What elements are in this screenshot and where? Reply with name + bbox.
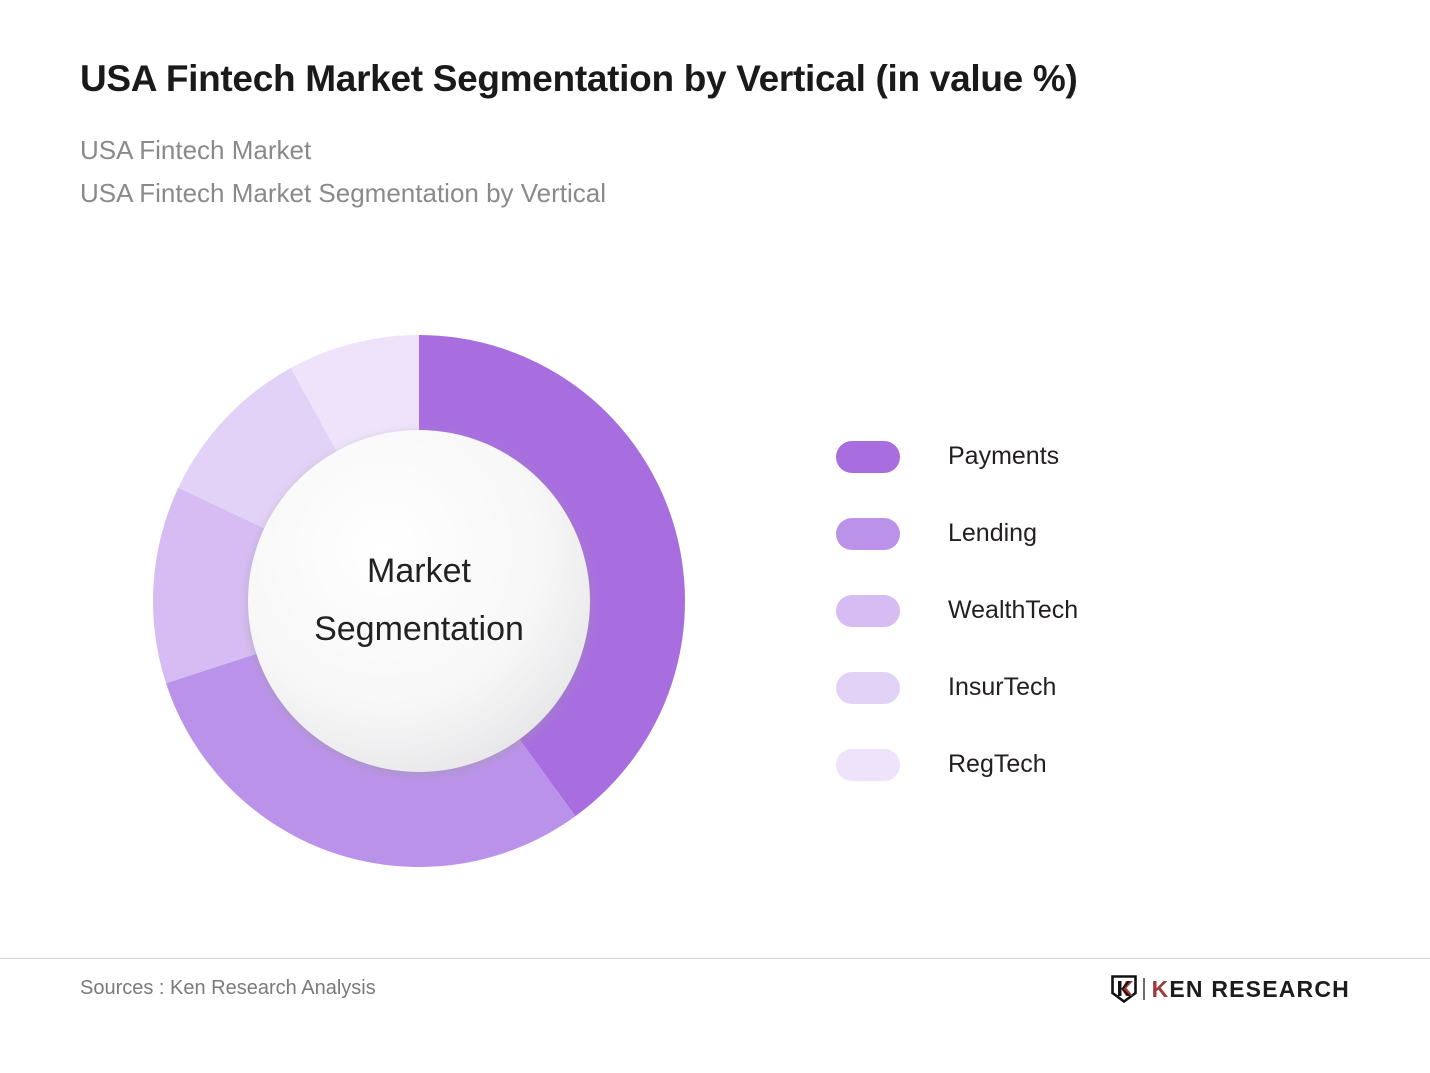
legend-label: RegTech	[948, 750, 1047, 779]
legend-swatch-icon	[836, 672, 900, 704]
logo-wordmark: KEN RESEARCH	[1152, 976, 1350, 1003]
legend-label: Lending	[948, 519, 1037, 548]
legend-label: Payments	[948, 442, 1059, 471]
chart-legend: PaymentsLendingWealthTechInsurTechRegTec…	[836, 418, 1266, 803]
donut-svg	[153, 335, 685, 867]
legend-swatch-icon	[836, 441, 900, 473]
logo-wordmark-k: K	[1152, 976, 1170, 1002]
logo-divider	[1143, 978, 1145, 1000]
footer: Sources : Ken Research Analysis KEN RESE…	[0, 959, 1430, 1073]
legend-label: WealthTech	[948, 596, 1078, 625]
chart-area: Market Segmentation PaymentsLendingWealt…	[0, 300, 1430, 920]
header: USA Fintech Market Segmentation by Verti…	[80, 58, 1370, 216]
source-text: Sources : Ken Research Analysis	[80, 977, 376, 1000]
legend-swatch-icon	[836, 518, 900, 550]
donut-hole	[248, 430, 590, 772]
legend-item-wealthtech[interactable]: WealthTech	[836, 572, 1266, 649]
legend-swatch-icon	[836, 595, 900, 627]
page-title: USA Fintech Market Segmentation by Verti…	[80, 58, 1370, 101]
slide-root: USA Fintech Market Segmentation by Verti…	[0, 0, 1430, 1073]
logo-wordmark-rest: EN RESEARCH	[1169, 976, 1350, 1002]
legend-item-lending[interactable]: Lending	[836, 495, 1266, 572]
legend-item-payments[interactable]: Payments	[836, 418, 1266, 495]
subtitle-line-1: USA Fintech Market	[80, 129, 1370, 173]
subtitle-line-2: USA Fintech Market Segmentation by Verti…	[80, 172, 1370, 216]
ken-research-logo: KEN RESEARCH	[1111, 967, 1350, 1011]
donut-chart: Market Segmentation	[153, 335, 685, 867]
breadcrumb: USA Fintech Market USA Fintech Market Se…	[80, 129, 1370, 216]
legend-item-insurtech[interactable]: InsurTech	[836, 649, 1266, 726]
legend-swatch-icon	[836, 749, 900, 781]
shield-k-icon	[1111, 975, 1137, 1003]
legend-label: InsurTech	[948, 673, 1056, 702]
legend-item-regtech[interactable]: RegTech	[836, 726, 1266, 803]
